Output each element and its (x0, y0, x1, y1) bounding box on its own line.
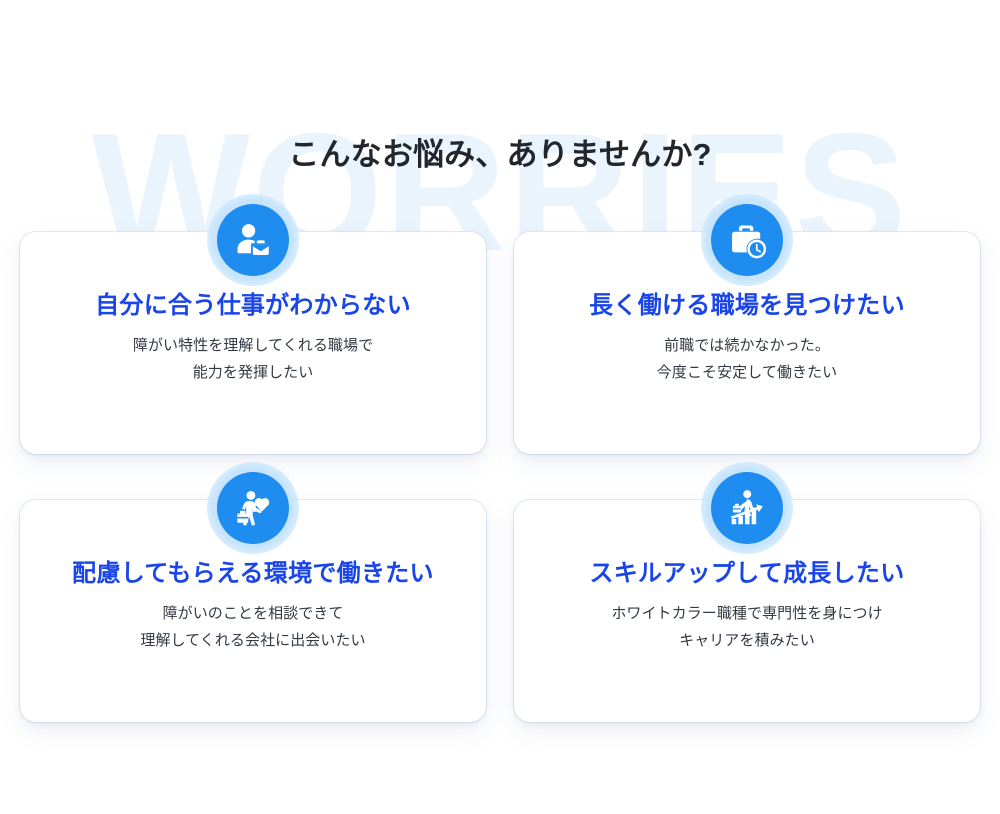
worry-card-description: 障がい特性を理解してくれる職場で 能力を発揮したい (44, 333, 462, 386)
person-climbing-growth-chart-icon (711, 472, 783, 544)
worries-section: WORRIES こんなお悩み、ありませんか? 自分に合う仕事がわからない (0, 0, 1000, 814)
worry-card-description: ホワイトカラー職種で専門性を身につけ キャリアを積みたい (538, 601, 956, 654)
page-title: こんなお悩み、ありませんか? (0, 135, 1000, 175)
worry-card-1[interactable]: 自分に合う仕事がわからない 障がい特性を理解してくれる職場で 能力を発揮したい (20, 232, 486, 454)
worry-card-title: 配慮してもらえる環境で働きたい (44, 558, 462, 590)
person-with-briefcase-icon (217, 204, 289, 276)
icon-badge-1 (207, 194, 299, 286)
worry-card-desc-line: 理解してくれる会社に出会いたい (44, 628, 462, 654)
worry-card-desc-line: キャリアを積みたい (538, 628, 956, 654)
worry-card-grid: 自分に合う仕事がわからない 障がい特性を理解してくれる職場で 能力を発揮したい (20, 232, 980, 722)
worry-card-desc-line: 障がいのことを相談できて (44, 601, 462, 627)
worry-card-desc-line: 前職では続かなかった。 (538, 333, 956, 359)
worry-card-desc-line: 能力を発揮したい (44, 360, 462, 386)
worry-card-desc-line: 今度こそ安定して働きたい (538, 360, 956, 386)
businessperson-heart-icon (217, 472, 289, 544)
icon-badge-4 (701, 462, 793, 554)
icon-badge-2 (701, 194, 793, 286)
worry-card-description: 障がいのことを相談できて 理解してくれる会社に出会いたい (44, 601, 462, 654)
worry-card-description: 前職では続かなかった。 今度こそ安定して働きたい (538, 333, 956, 386)
briefcase-clock-icon (711, 204, 783, 276)
icon-badge-3 (207, 462, 299, 554)
worry-card-desc-line: ホワイトカラー職種で専門性を身につけ (538, 601, 956, 627)
worry-card-title: スキルアップして成長したい (538, 558, 956, 590)
worry-card-2[interactable]: 長く働ける職場を見つけたい 前職では続かなかった。 今度こそ安定して働きたい (514, 232, 980, 454)
worry-card-4[interactable]: スキルアップして成長したい ホワイトカラー職種で専門性を身につけ キャリアを積み… (514, 500, 980, 722)
worry-card-title: 自分に合う仕事がわからない (44, 290, 462, 322)
worry-card-title: 長く働ける職場を見つけたい (538, 290, 956, 322)
worry-card-desc-line: 障がい特性を理解してくれる職場で (44, 333, 462, 359)
worry-card-3[interactable]: 配慮してもらえる環境で働きたい 障がいのことを相談できて 理解してくれる会社に出… (20, 500, 486, 722)
